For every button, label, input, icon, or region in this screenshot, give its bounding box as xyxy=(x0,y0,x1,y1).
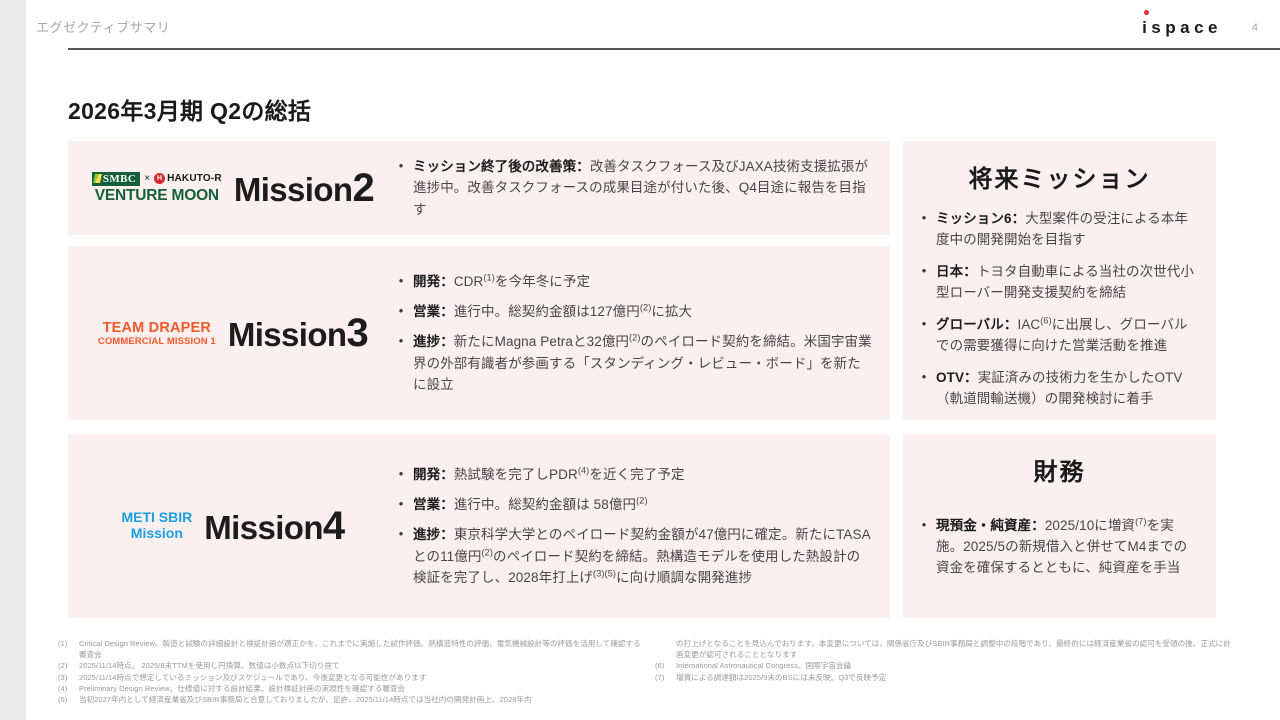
bullet-body: 進行中。総契約金額は127億円(2)に拡大 xyxy=(454,304,692,319)
slide-root: エグゼクティブサマリ ispace 4 2026年3月期 Q2の総括 SMBC … xyxy=(0,0,1280,720)
header-divider xyxy=(68,48,1280,50)
list-item: • 開発：熱試験を完了しPDR(4)を近く完了予定 xyxy=(398,464,872,485)
bullet-text: 現預金・純資産：2025/10に増資(7)を実施。2025/5の新規借入と併せて… xyxy=(936,515,1198,578)
bullet-dot-icon: • xyxy=(921,261,927,281)
footnote-marker: (3) xyxy=(58,672,75,683)
footnote-marker: (4) xyxy=(58,683,75,694)
footnote-marker: (6) xyxy=(655,660,672,671)
footnotes-left: (1) Critical Design Review。製造と試験の詳細設計と検証… xyxy=(58,638,648,705)
hakuto-badge-icon: H xyxy=(154,173,165,184)
bullet-body: 東京科学大学とのペイロード契約金額が47億円に確定。新たにTASAとの11億円(… xyxy=(413,527,871,585)
finance-panel: 財務 • 現預金・純資産：2025/10に増資(7)を実施。2025/5の新規借… xyxy=(903,434,1216,618)
bullet-dot-icon: • xyxy=(398,464,404,484)
bullet-body: CDR(1)を今年冬に予定 xyxy=(454,274,590,289)
mission3-label-word: Mission xyxy=(228,316,347,353)
future-missions-bullets: • ミッション6：大型案件の受注による本年度中の開発開始を目指す • 日本：トヨ… xyxy=(903,194,1216,409)
bullet-dot-icon: • xyxy=(921,208,927,228)
bullet-dot-icon: • xyxy=(921,314,927,334)
meti-sbir-line2: Mission xyxy=(121,526,192,542)
bullet-dot-icon: • xyxy=(921,515,927,535)
bullet-lead: 開発： xyxy=(413,274,454,289)
footnote-text: 当初2027年内として経済産業省及びSBIR事務局と合意しておりましたが、足許、… xyxy=(79,694,648,705)
finance-title: 財務 xyxy=(903,434,1216,487)
team-draper-logo: TEAM DRAPER COMMERCIAL MISSION 1 xyxy=(98,320,216,347)
bullet-dot-icon: • xyxy=(398,331,404,351)
ispace-logo: ispace xyxy=(1142,18,1222,38)
footnote-marker: (1) xyxy=(58,638,75,660)
bullet-text: 営業：進行中。総契約金額は127億円(2)に拡大 xyxy=(413,301,692,322)
bullet-lead: 営業： xyxy=(413,304,454,319)
mission2-label-number: 2 xyxy=(352,166,374,210)
footnote-text: Critical Design Review。製造と試験の詳細設計と検証計画が適… xyxy=(79,638,648,660)
mission4-label-word: Mission xyxy=(204,509,323,546)
bullet-lead: OTV： xyxy=(936,370,978,385)
list-item: • 進捗：新たにMagna Petraと32億円(2)のペイロード契約を締結。米… xyxy=(398,331,872,395)
footnote-item: (1) Critical Design Review。製造と試験の詳細設計と検証… xyxy=(58,638,648,660)
meti-sbir-line1: METI SBIR xyxy=(121,510,192,526)
footnote-marker: (2) xyxy=(58,660,75,671)
footnote-text: 2025/11/14時点。 2025/8末TTMを使用し円換算。数値は小数点以下… xyxy=(79,660,648,671)
footnote-item: (3) 2025/11/14時点で想定しているミッション及びスケジュールであり、… xyxy=(58,672,648,683)
list-item: • 現預金・純資産：2025/10に増資(7)を実施。2025/5の新規借入と併… xyxy=(921,515,1198,578)
bullet-text: OTV：実証済みの技術力を生かしたOTV（軌道間輸送機）の開発検討に着手 xyxy=(936,367,1196,409)
left-edge-strip xyxy=(0,0,26,720)
mission4-card: METI SBIR Mission Mission4 • 開発：熱試験を完了しP… xyxy=(68,434,890,618)
smbc-hakuto-r-venture-moon-logo: SMBC × H HAKUTO-R VENTURE MOON xyxy=(92,172,222,205)
smbc-logo: SMBC xyxy=(92,172,140,186)
bullet-text: 進捗：東京科学大学とのペイロード契約金額が47億円に確定。新たにTASAとの11… xyxy=(413,524,872,588)
bullet-dot-icon: • xyxy=(921,367,927,387)
footnote-item: (5) 当初2027年内として経済産業省及びSBIR事務局と合意しておりましたが… xyxy=(58,694,648,705)
bullet-lead: グローバル： xyxy=(936,317,1017,332)
team-draper-line1: TEAM DRAPER xyxy=(103,320,212,336)
bullet-lead: 進捗： xyxy=(413,527,454,542)
mission2-label: Mission2 xyxy=(234,166,374,211)
mission3-card: TEAM DRAPER COMMERCIAL MISSION 1 Mission… xyxy=(68,246,890,420)
list-item: • ミッション終了後の改善策：改善タスクフォース及びJAXA技術支援拡張が進捗中… xyxy=(398,156,872,220)
bullet-lead: 現預金・純資産： xyxy=(936,518,1045,533)
mission2-bullets: • ミッション終了後の改善策：改善タスクフォース及びJAXA技術支援拡張が進捗中… xyxy=(398,141,872,235)
list-item: • 営業：進行中。総契約金額は127億円(2)に拡大 xyxy=(398,301,872,322)
ispace-logo-text: ispace xyxy=(1142,18,1222,38)
mission2-label-word: Mission xyxy=(234,171,353,208)
list-item: • 開発：CDR(1)を今年冬に予定 xyxy=(398,271,872,292)
future-missions-title: 将来ミッション xyxy=(903,141,1216,194)
list-item: • ミッション6：大型案件の受注による本年度中の開発開始を目指す xyxy=(921,208,1196,250)
mission3-bullets: • 開発：CDR(1)を今年冬に予定 • 営業：進行中。総契約金額は127億円(… xyxy=(398,246,872,420)
bullet-text: 日本：トヨタ自動車による当社の次世代小型ローバー開発支援契約を締結 xyxy=(936,261,1196,303)
future-missions-panel: 将来ミッション • ミッション6：大型案件の受注による本年度中の開発開始を目指す… xyxy=(903,141,1216,420)
page-number: 4 xyxy=(1252,22,1258,34)
bullet-body: 新たにMagna Petraと32億円(2)のペイロード契約を締結。米国宇宙業界… xyxy=(413,334,872,392)
footnote-text: International Astronautical Congress。国際宇… xyxy=(676,660,1235,671)
bullet-dot-icon: • xyxy=(398,301,404,321)
list-item: • グローバル：IAC(6)に出展し、グローバルでの需要獲得に向けた営業活動を推… xyxy=(921,314,1196,356)
footnote-text: 増資による調達額は2025/9末のBSには未反映。Q3で反映予定 xyxy=(676,672,1235,683)
smbc-mark-icon xyxy=(93,174,102,183)
bullet-dot-icon: • xyxy=(398,156,404,176)
bullet-text: ミッション6：大型案件の受注による本年度中の開発開始を目指す xyxy=(936,208,1196,250)
footnote-item: (6) International Astronautical Congress… xyxy=(655,660,1235,671)
mission3-header: TEAM DRAPER COMMERCIAL MISSION 1 Mission… xyxy=(68,246,398,420)
bullet-dot-icon: • xyxy=(398,524,404,544)
list-item: • OTV：実証済みの技術力を生かしたOTV（軌道間輸送機）の開発検討に着手 xyxy=(921,367,1196,409)
footnote-marker: (7) xyxy=(655,672,672,683)
bullet-text: 営業：進行中。総契約金額は 58億円(2) xyxy=(413,494,648,515)
mission4-header: METI SBIR Mission Mission4 xyxy=(68,434,398,618)
cross-icon: × xyxy=(144,173,150,184)
bullet-text: 開発：熱試験を完了しPDR(4)を近く完了予定 xyxy=(413,464,685,485)
mission3-label-number: 3 xyxy=(346,311,368,355)
bullet-lead: ミッション6： xyxy=(936,211,1025,226)
hakuto-r-text: HAKUTO-R xyxy=(167,173,222,184)
bullet-body: 進行中。総契約金額は 58億円(2) xyxy=(454,497,648,512)
mission4-bullets: • 開発：熱試験を完了しPDR(4)を近く完了予定 • 営業：進行中。総契約金額… xyxy=(398,434,872,618)
bullet-dot-icon: • xyxy=(398,494,404,514)
mission3-label: Mission3 xyxy=(228,311,368,356)
breadcrumb: エグゼクティブサマリ xyxy=(36,17,170,36)
list-item: • 日本：トヨタ自動車による当社の次世代小型ローバー開発支援契約を締結 xyxy=(921,261,1196,303)
mission4-label: Mission4 xyxy=(204,504,344,549)
slide-header: エグゼクティブサマリ ispace 4 xyxy=(26,0,1280,50)
bullet-text: 進捗：新たにMagna Petraと32億円(2)のペイロード契約を締結。米国宇… xyxy=(413,331,872,395)
bullet-text: 開発：CDR(1)を今年冬に予定 xyxy=(413,271,590,292)
venture-moon-text: VENTURE MOON xyxy=(95,187,219,205)
mission4-label-number: 4 xyxy=(323,504,345,548)
list-item: • 営業：進行中。総契約金額は 58億円(2) xyxy=(398,494,872,515)
bullet-text: グローバル：IAC(6)に出展し、グローバルでの需要獲得に向けた営業活動を推進 xyxy=(936,314,1196,356)
bullet-lead: 営業： xyxy=(413,497,454,512)
list-item: • 進捗：東京科学大学とのペイロード契約金額が47億円に確定。新たにTASAとの… xyxy=(398,524,872,588)
footnote-text: 2025/11/14時点で想定しているミッション及びスケジュールであり、今後変更… xyxy=(79,672,648,683)
meti-sbir-logo: METI SBIR Mission xyxy=(121,510,192,541)
bullet-lead: 開発： xyxy=(413,467,454,482)
bullet-lead: ミッション終了後の改善策： xyxy=(413,159,590,174)
bullet-lead: 進捗： xyxy=(413,334,454,349)
page-title: 2026年3月期 Q2の総括 xyxy=(68,92,311,126)
team-draper-line2: COMMERCIAL MISSION 1 xyxy=(98,336,216,347)
footnote-continuation: の打上げとなることを見込んでおります。本変更については、関係省庁及びSBIR事務… xyxy=(655,638,1235,660)
footnote-item: (4) Preliminary Design Review。仕様値に対する設計結… xyxy=(58,683,648,694)
footnotes-right: の打上げとなることを見込んでおります。本変更については、関係省庁及びSBIR事務… xyxy=(655,638,1235,683)
footnote-item: (2) 2025/11/14時点。 2025/8末TTMを使用し円換算。数値は小… xyxy=(58,660,648,671)
bullet-text: ミッション終了後の改善策：改善タスクフォース及びJAXA技術支援拡張が進捗中。改… xyxy=(413,156,872,220)
bullet-lead: 日本： xyxy=(936,264,977,279)
ispace-logo-dot-icon xyxy=(1144,10,1149,15)
smbc-logo-text: SMBC xyxy=(103,173,136,185)
finance-bullets: • 現預金・純資産：2025/10に増資(7)を実施。2025/5の新規借入と併… xyxy=(903,487,1216,578)
footnote-item: (7) 増資による調達額は2025/9末のBSには未反映。Q3で反映予定 xyxy=(655,672,1235,683)
footnote-marker: (5) xyxy=(58,694,75,705)
mission2-header: SMBC × H HAKUTO-R VENTURE MOON Mission2 xyxy=(68,141,398,235)
bullet-dot-icon: • xyxy=(398,271,404,291)
bullet-body: 熱試験を完了しPDR(4)を近く完了予定 xyxy=(454,467,685,482)
footnote-text: Preliminary Design Review。仕様値に対する設計結果、設計… xyxy=(79,683,648,694)
mission2-card: SMBC × H HAKUTO-R VENTURE MOON Mission2 xyxy=(68,141,890,235)
